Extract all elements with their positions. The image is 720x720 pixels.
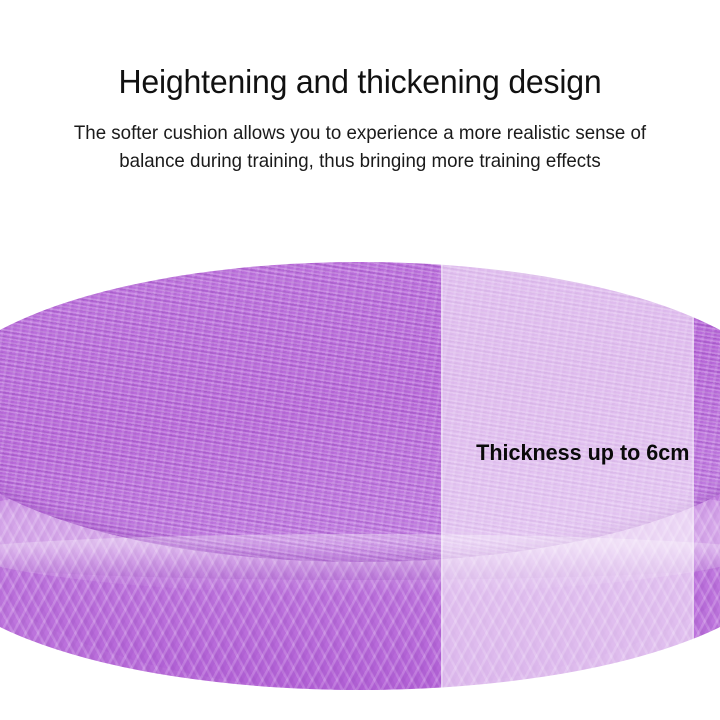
subtitle-line-1: The softer cushion allows you to experie… <box>14 119 705 147</box>
thickness-callout-label: Thickness up to 6cm <box>476 440 689 466</box>
page-title: Heightening and thickening design <box>11 62 709 102</box>
subtitle-line-2: balance during training, thus bringing m… <box>14 147 705 175</box>
overlay-right-boundary <box>692 262 694 720</box>
subtitle-paragraph: The softer cushion allows you to experie… <box>14 119 705 175</box>
product-marketing-banner: Thickness up to 6cm Heightening and thic… <box>0 0 720 720</box>
thickness-highlight-overlay <box>441 262 694 720</box>
text-block: Heightening and thickening design The so… <box>0 0 720 175</box>
overlay-left-boundary <box>441 262 443 720</box>
